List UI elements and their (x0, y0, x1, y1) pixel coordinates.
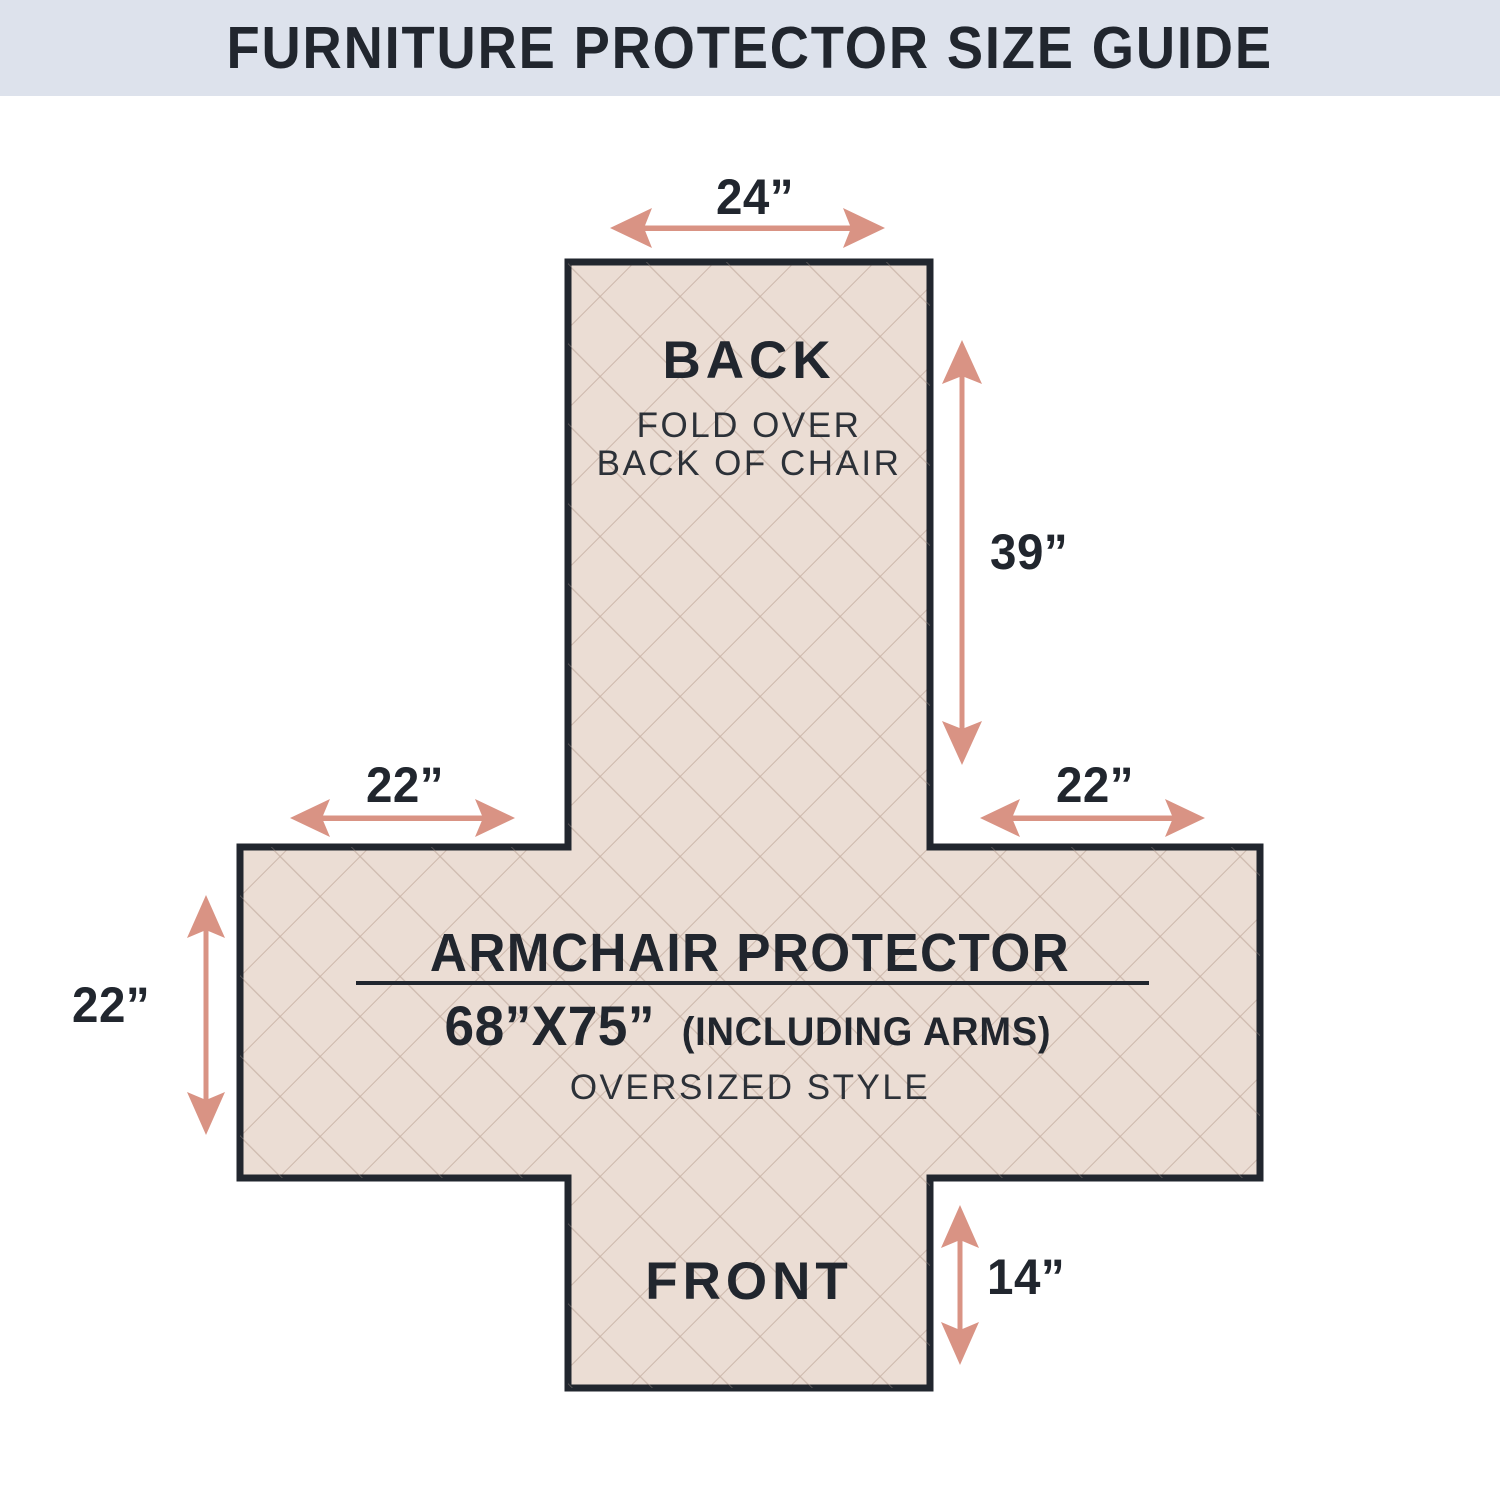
product-title: ARMCHAIR PROTECTOR (266, 922, 1235, 984)
dimension-arrow-back-height (942, 340, 982, 765)
dimension-arrow-arm-height (187, 895, 225, 1135)
dimension-label-back-width: 24” (646, 168, 865, 226)
product-dimensions: 68”X75” (444, 993, 654, 1058)
back-panel-subtitle-line1: FOLD OVER (548, 406, 950, 446)
product-dimensions-row: 68”X75” (INCLUDING ARMS) (240, 993, 1260, 1058)
dimension-label-arm-height: 22” (72, 976, 150, 1034)
protector-diagram: BACK FOLD OVER BACK OF CHAIR ARMCHAIR PR… (0, 96, 1500, 1500)
header-band: FURNITURE PROTECTOR SIZE GUIDE (0, 0, 1500, 96)
product-dimensions-note: (INCLUDING ARMS) (682, 1010, 1052, 1055)
front-panel-title: FRONT (568, 1251, 930, 1312)
back-panel-subtitle-line2: BACK OF CHAIR (548, 444, 950, 484)
dimension-label-back-height: 39” (990, 523, 1068, 581)
back-panel-title: BACK (568, 330, 930, 391)
product-style: OVERSIZED STYLE (240, 1068, 1260, 1108)
page-title: FURNITURE PROTECTOR SIZE GUIDE (227, 14, 1273, 82)
dimension-label-front-height: 14” (987, 1248, 1065, 1306)
dimension-label-right-arm-width: 22” (995, 756, 1195, 814)
size-guide-page: FURNITURE PROTECTOR SIZE GUIDE (0, 0, 1500, 1500)
title-divider-rule (356, 981, 1149, 985)
dimension-arrow-front-height (941, 1205, 979, 1365)
dimension-label-left-arm-width: 22” (305, 756, 505, 814)
